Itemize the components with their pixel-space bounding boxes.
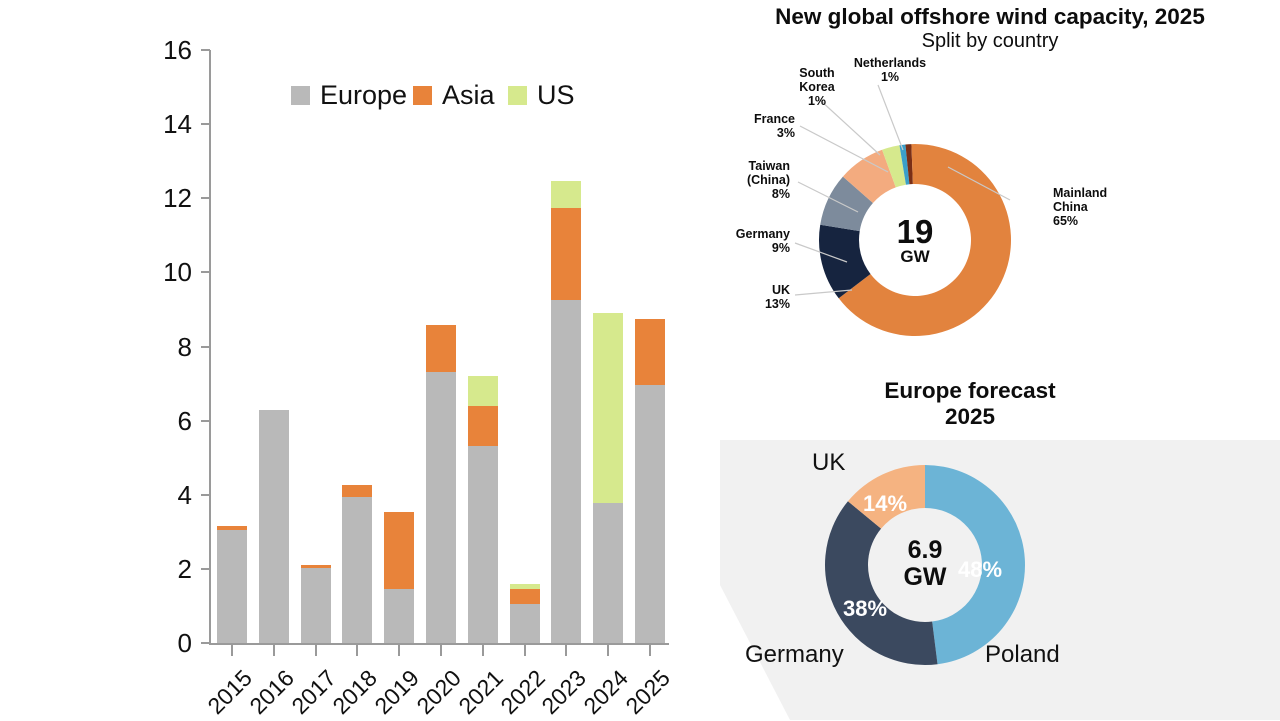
bar-segment-asia-2023 (551, 208, 581, 301)
x-tick-mark (398, 645, 400, 656)
y-tick-mark (201, 123, 210, 125)
legend-swatch-europe (291, 86, 310, 105)
bar-segment-europe-2018 (342, 497, 372, 643)
infographic-root: Europe Asia US 1614121086420 20152016201… (0, 0, 1280, 720)
bar-segment-asia-2021 (468, 406, 498, 446)
x-tick-mark (440, 645, 442, 656)
bar-segment-europe-2016 (259, 410, 289, 643)
legend-label-europe: Europe (320, 82, 407, 109)
callout-uk: UK 13% (725, 283, 790, 311)
x-tick-mark (482, 645, 484, 656)
y-tick-mark (201, 271, 210, 273)
legend-swatch-asia (413, 86, 432, 105)
y-tick-label: 8 (148, 334, 192, 360)
y-tick-label: 10 (148, 259, 192, 285)
y-tick-mark (201, 346, 210, 348)
europe-forecast-panel: Europe forecast 2025 6.9 GW 48% 38% 14% … (660, 370, 1280, 720)
x-tick-label-2023: 2023 (536, 666, 590, 720)
bar-segment-us-2023 (551, 181, 581, 208)
legend-item-asia: Asia (413, 82, 495, 109)
callout-taiwan-china: Taiwan (China) 8% (720, 159, 790, 201)
x-tick-mark (273, 645, 275, 656)
x-tick-mark (649, 645, 651, 656)
y-tick-label: 6 (148, 408, 192, 434)
bar-segment-europe-2015 (217, 530, 247, 643)
leader-line (820, 100, 880, 155)
bar-segment-asia-2019 (384, 512, 414, 589)
global-donut-title: New global offshore wind capacity, 2025 (700, 4, 1280, 30)
bar-segment-europe-2017 (301, 568, 331, 643)
global-donut-center-unit: GW (865, 248, 965, 265)
bar-segment-europe-2022 (510, 604, 540, 643)
x-tick-label-2019: 2019 (369, 666, 423, 720)
x-tick-label-2020: 2020 (411, 666, 465, 720)
europe-slice-pct-germany: 38% (835, 597, 895, 621)
y-tick-mark (201, 420, 210, 422)
bar-segment-europe-2023 (551, 300, 581, 643)
callout-germany: Germany 9% (710, 227, 790, 255)
bar-segment-us-2022 (510, 584, 540, 588)
europe-label-poland: Poland (985, 642, 1060, 668)
bar-segment-asia-2018 (342, 485, 372, 496)
x-tick-mark (565, 645, 567, 656)
y-tick-label: 0 (148, 630, 192, 656)
stacked-bar-chart: Europe Asia US 1614121086420 20152016201… (0, 0, 700, 720)
europe-label-uk: UK (812, 450, 845, 476)
legend-item-us: US (508, 82, 575, 109)
legend-label-asia: Asia (442, 82, 495, 109)
y-tick-mark (201, 568, 210, 570)
y-tick-label: 12 (148, 185, 192, 211)
bar-segment-asia-2015 (217, 526, 247, 530)
bar-segment-europe-2019 (384, 589, 414, 643)
europe-title-line1: Europe forecast (660, 378, 1280, 404)
y-tick-mark (201, 49, 210, 51)
europe-slice-pct-uk: 14% (855, 492, 915, 516)
bar-segment-europe-2024 (593, 503, 623, 643)
europe-title-line2: 2025 (660, 404, 1280, 430)
global-donut-center-value: 19 (865, 215, 965, 248)
x-tick-mark (315, 645, 317, 656)
callout-france: France 3% (730, 112, 795, 140)
y-tick-label: 2 (148, 556, 192, 582)
x-tick-label-2018: 2018 (327, 666, 381, 720)
y-tick-mark (201, 494, 210, 496)
x-tick-label-2022: 2022 (494, 666, 548, 720)
y-tick-mark (201, 642, 210, 644)
x-tick-label-2015: 2015 (202, 666, 256, 720)
x-tick-mark (231, 645, 233, 656)
callout-netherlands: Netherlands 1% (840, 56, 940, 84)
legend-item-europe: Europe (291, 82, 407, 109)
bar-segment-us-2024 (593, 313, 623, 503)
y-tick-label: 16 (148, 37, 192, 63)
x-tick-label-2024: 2024 (578, 666, 632, 720)
europe-label-germany: Germany (745, 642, 844, 668)
y-tick-label: 14 (148, 111, 192, 137)
x-tick-mark (524, 645, 526, 656)
global-donut-subtitle: Split by country (700, 30, 1280, 53)
leader-line (800, 126, 888, 172)
bar-segment-europe-2020 (426, 372, 456, 643)
bar-segment-us-2021 (468, 376, 498, 406)
global-capacity-donut-panel: New global offshore wind capacity, 2025 … (700, 0, 1280, 360)
legend-label-us: US (537, 82, 575, 109)
bar-segment-asia-2020 (426, 325, 456, 372)
y-tick-label: 4 (148, 482, 192, 508)
x-tick-label-2016: 2016 (244, 666, 298, 720)
y-axis-line (209, 50, 211, 645)
legend-swatch-us (508, 86, 527, 105)
x-tick-label-2017: 2017 (285, 666, 339, 720)
bar-segment-asia-2022 (510, 589, 540, 605)
x-tick-label-2021: 2021 (453, 666, 507, 720)
x-tick-mark (607, 645, 609, 656)
y-tick-mark (201, 197, 210, 199)
x-tick-mark (356, 645, 358, 656)
bar-segment-asia-2017 (301, 565, 331, 568)
europe-slice-pct-poland: 48% (950, 558, 1010, 582)
bar-segment-europe-2021 (468, 446, 498, 643)
callout-mainland-china: Mainland China 65% (1053, 186, 1143, 228)
leader-line (878, 85, 903, 150)
